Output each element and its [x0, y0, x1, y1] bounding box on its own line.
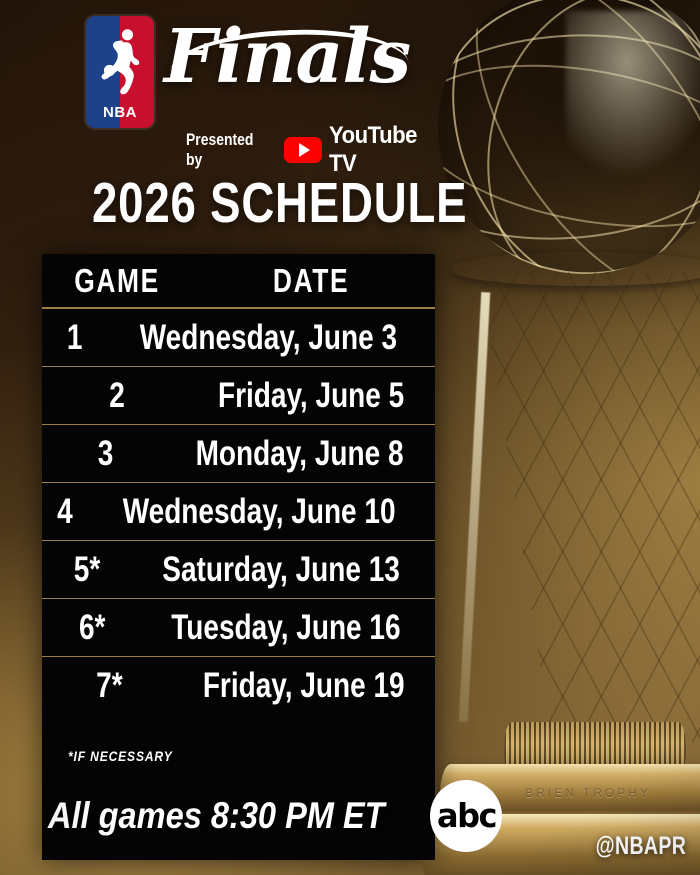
- cell-game-number: 1: [49, 318, 101, 358]
- schedule-table: GAME DATE 1 Wednesday, June 3 2 Friday, …: [42, 254, 435, 860]
- broadcast-footer: All games 8:30 PM ET abc: [48, 780, 430, 852]
- trophy-cone: [432, 272, 700, 742]
- presented-by-label: Presented by: [186, 130, 260, 170]
- table-row: 7* Friday, June 19: [42, 657, 435, 715]
- trophy-textured-band: [504, 722, 686, 776]
- nbapr-watermark: @NBAPR: [595, 832, 686, 861]
- youtube-play-icon: [284, 137, 322, 163]
- cell-game-date: Tuesday, June 16: [172, 608, 406, 648]
- youtube-tv-wordmark: YouTube TV: [329, 122, 432, 178]
- table-row: 3 Monday, June 8: [42, 425, 435, 483]
- play-triangle-icon: [299, 143, 310, 157]
- cell-game-date: Saturday, June 13: [162, 550, 404, 590]
- trophy-cone-highlight: [459, 292, 490, 722]
- cell-game-date: Friday, June 19: [203, 666, 410, 706]
- basketball-player-silhouette-icon: [98, 25, 142, 99]
- column-header-date: DATE: [216, 262, 410, 300]
- trophy-ball-seam: [438, 0, 700, 274]
- trophy-ball-seam: [438, 39, 700, 251]
- page-title: 2026 SCHEDULE: [92, 172, 467, 234]
- if-necessary-footnote: *IF NECESSARY: [68, 748, 173, 764]
- trophy-ball-seam: [438, 0, 700, 274]
- cell-game-date: Monday, June 8: [196, 434, 409, 474]
- presenting-sponsor-lockup: Presented by YouTube TV: [186, 122, 440, 178]
- table-row: 1 Wednesday, June 3: [42, 309, 435, 367]
- trophy-net-pattern: [432, 272, 700, 742]
- trophy-ball-seam: [438, 22, 700, 252]
- cell-game-number: 6*: [52, 608, 132, 648]
- trophy-ball-seam: [438, 0, 700, 274]
- table-row: 2 Friday, June 5: [42, 367, 435, 425]
- table-header-row: GAME DATE: [42, 254, 435, 309]
- cell-game-date: Friday, June 5: [216, 376, 410, 416]
- trophy-ball-seam: [453, 0, 700, 274]
- tipoff-time-note: All games 8:30 PM ET: [48, 795, 385, 837]
- branding-lockup: NBA Finals: [86, 16, 414, 128]
- cell-game-date: Wednesday, June 10: [123, 492, 401, 532]
- abc-wordmark: abc: [437, 800, 496, 833]
- table-row: 6* Tuesday, June 16: [42, 599, 435, 657]
- table-row: 4 Wednesday, June 10: [42, 483, 435, 541]
- cell-game-number: 3: [55, 434, 157, 474]
- nba-finals-schedule-poster: BRIEN TROPHY NBA Finals Presented by: [0, 0, 700, 875]
- trophy-ball-seam: [438, 0, 700, 274]
- trophy-ball: [438, 0, 700, 274]
- trophy-ball-highlight: [566, 11, 700, 180]
- nba-logo-wordmark: NBA: [86, 104, 154, 121]
- cell-game-number: 2: [57, 376, 177, 416]
- abc-logo-icon: abc: [430, 780, 502, 852]
- cell-game-date: Wednesday, June 3: [140, 318, 402, 358]
- cell-game-number: 4: [47, 492, 84, 532]
- trophy-collar: [452, 252, 700, 286]
- cell-game-number: 5*: [51, 550, 123, 590]
- table-row: 5* Saturday, June 13: [42, 541, 435, 599]
- finals-wordmark: Finals: [164, 16, 414, 98]
- cell-game-number: 7*: [55, 666, 163, 706]
- column-header-game: GAME: [57, 262, 177, 300]
- nba-logo-icon: NBA: [86, 16, 154, 128]
